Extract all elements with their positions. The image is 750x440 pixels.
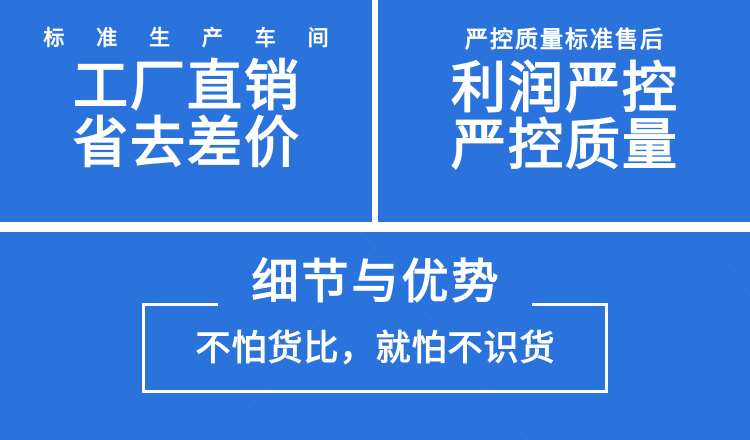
panel-right-headline-line-1: 利润严控: [449, 60, 679, 117]
bottom-banner-subtitle: 不怕货比，就怕不识货: [0, 331, 750, 366]
promo-banner: 标 准 生 产 车 间 工厂直销 省去差价 严控质量标准售后 利润严控 严控质量: [0, 0, 750, 440]
panel-left-eyebrow: 标 准 生 产 车 间: [30, 28, 341, 49]
panel-right-eyebrow: 严控质量标准售后: [463, 28, 665, 51]
panel-left-headline-line-1: 工厂直销: [71, 58, 301, 115]
panel-details-advantages: 细节与优势 不怕货比，就怕不识货: [0, 232, 750, 440]
panel-left-headline-line-2: 省去差价: [71, 115, 301, 172]
bottom-banner-title: 细节与优势: [0, 258, 750, 305]
panel-quality-control: 严控质量标准售后 利润严控 严控质量: [378, 0, 750, 222]
panel-factory-direct: 标 准 生 产 车 间 工厂直销 省去差价: [0, 0, 372, 222]
top-panel-row: 标 准 生 产 车 间 工厂直销 省去差价 严控质量标准售后 利润严控 严控质量: [0, 0, 750, 222]
panel-left-headline: 工厂直销 省去差价: [71, 58, 301, 171]
panel-right-headline: 利润严控 严控质量: [449, 60, 679, 173]
panel-right-headline-line-2: 严控质量: [449, 117, 679, 174]
highlight-frame-bottom-edge: [142, 390, 608, 393]
